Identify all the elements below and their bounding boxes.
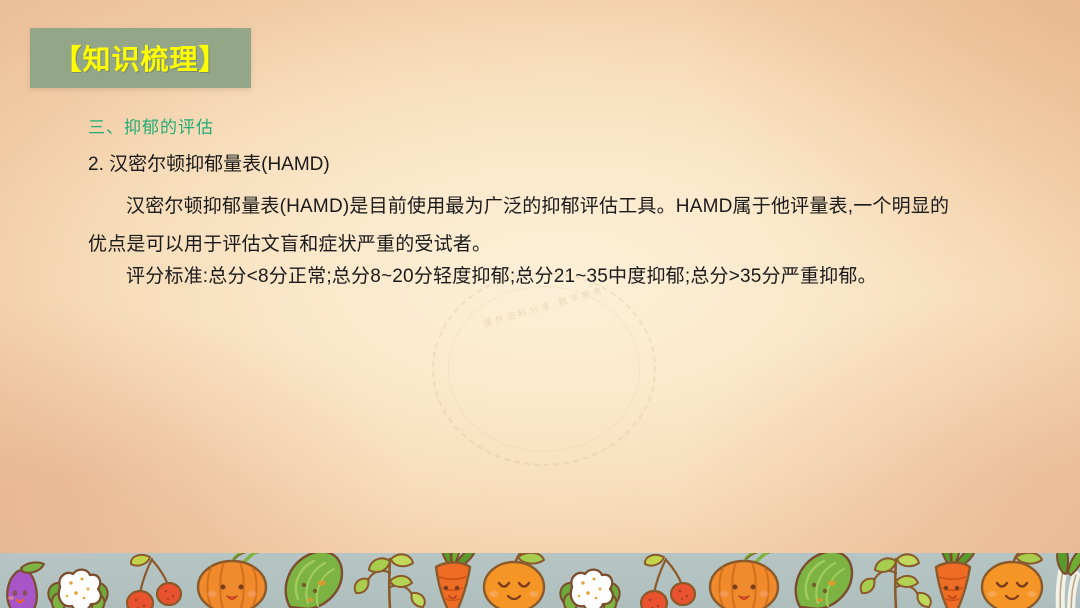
body-paragraph-2: 评分标准:总分<8分正常;总分8~20分轻度抑郁;总分21~35中度抑郁;总分>… xyxy=(88,258,968,296)
veggie-row xyxy=(7,553,1080,608)
section-title-label: 【知识梳理】 xyxy=(53,38,227,78)
item-title: 2. 汉密尔顿抑郁量表(HAMD) xyxy=(88,149,330,176)
body-paragraph-1: 汉密尔顿抑郁量表(HAMD)是目前使用最为广泛的抑郁评估工具。HAMD属于他评量… xyxy=(88,188,968,264)
background-tint-left xyxy=(0,300,420,560)
decorative-vegetable-border xyxy=(0,553,1080,608)
background-tint-right xyxy=(680,290,1080,560)
section-title-banner: 【知识梳理】 xyxy=(30,28,251,88)
presentation-slide: 课件资料分享·教学参考 【知识梳理】 三、抑郁的评估 2. 汉密尔顿抑郁量表(H… xyxy=(0,0,1080,608)
vegetable-illustrations xyxy=(0,553,1080,608)
section-heading: 三、抑郁的评估 xyxy=(88,113,214,138)
watermark-stamp: 课件资料分享·教学参考 xyxy=(432,272,656,466)
watermark-inner-ring xyxy=(448,286,640,452)
